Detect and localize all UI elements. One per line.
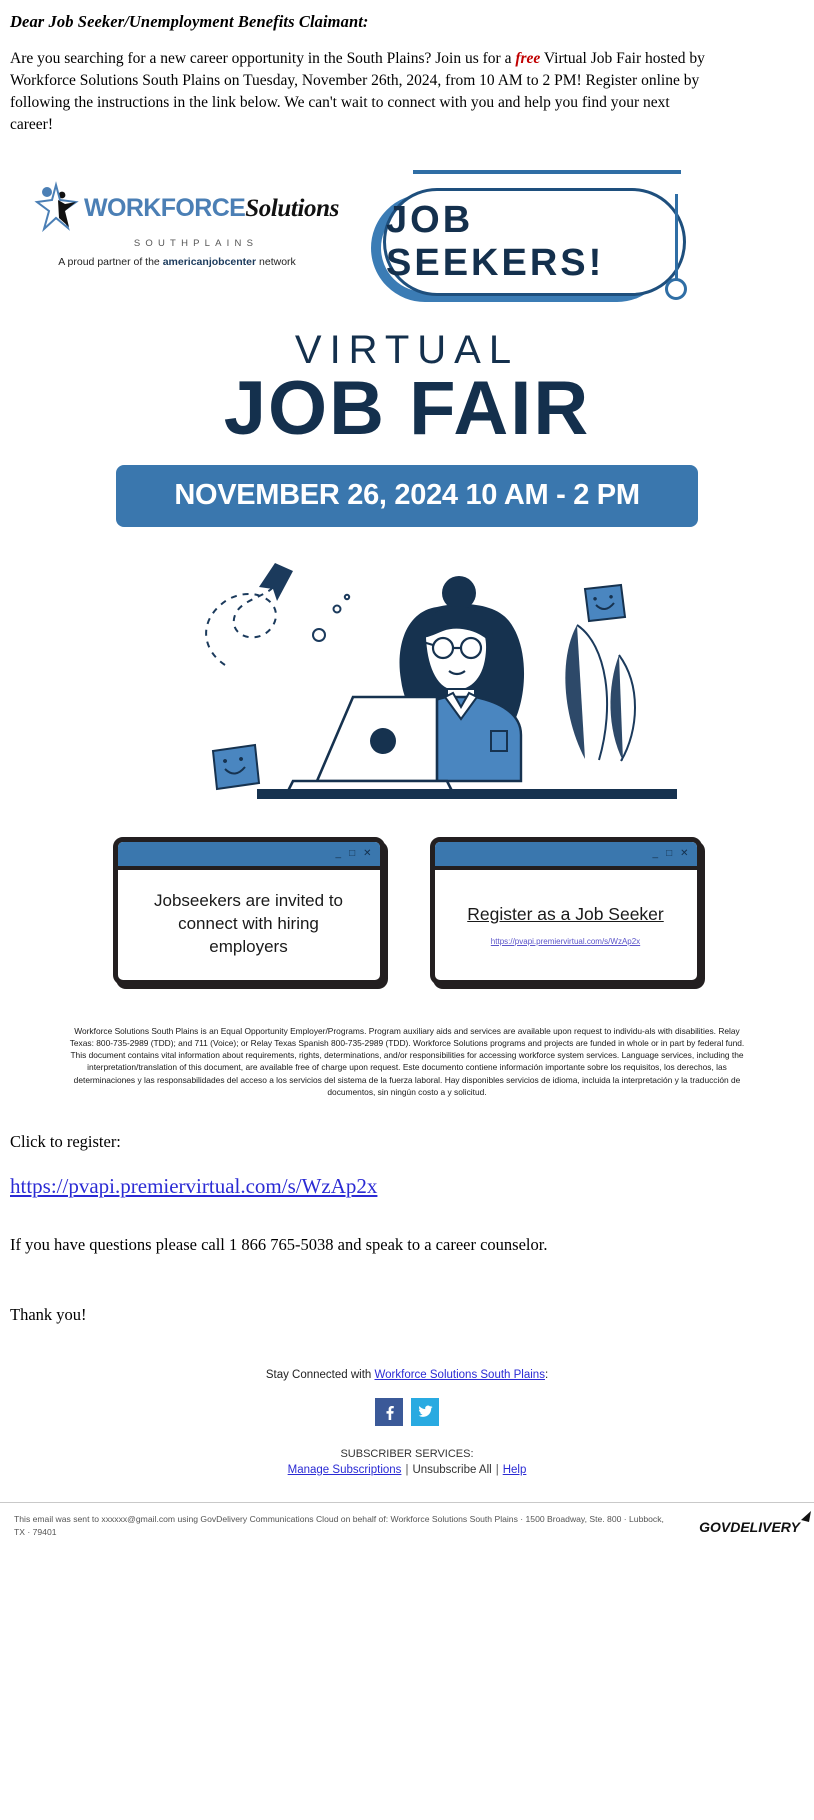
proud-prefix: A proud partner of the [58, 256, 163, 268]
salutation: Dear Job Seeker/Unemployment Benefits Cl… [10, 12, 804, 32]
logo-southplains-text: SOUTHPLAINS [32, 238, 322, 249]
event-date-banner: NOVEMBER 26, 2024 10 AM - 2 PM [116, 465, 698, 527]
legal-row: This email was sent to xxxxxx@gmail.com … [0, 1502, 814, 1549]
questions-line: If you have questions please call 1 866 … [10, 1235, 804, 1255]
subscriber-services-label: SUBSCRIBER SERVICES: [0, 1448, 814, 1460]
stay-connected-prefix: Stay Connected with [266, 1369, 375, 1381]
window-left-line3: employers [209, 936, 287, 959]
unsubscribe-all-link[interactable]: Unsubscribe All [412, 1464, 491, 1476]
window-left-content: Jobseekers are invited to connect with h… [118, 870, 380, 980]
link-separator-2: | [492, 1464, 503, 1476]
govdelivery-wordmark: GOVDELIVERY [699, 1519, 800, 1535]
star-person-icon [32, 180, 80, 236]
facebook-icon[interactable] [375, 1398, 403, 1426]
link-separator-1: | [401, 1464, 412, 1476]
close-icon[interactable]: ✕ [363, 849, 371, 859]
flyer-header-row: WORKFORCESolutions SOUTHPLAINS A proud p… [0, 166, 814, 316]
badge-end-dot-icon [665, 278, 687, 300]
american-job-center-logo: americanjobcenter [163, 256, 256, 268]
workforce-solutions-logo: WORKFORCESolutions SOUTHPLAINS A proud p… [32, 180, 322, 268]
govdelivery-logo: GOVDELIVERY [699, 1519, 800, 1535]
badge-pill: JOB SEEKERS! [383, 188, 686, 296]
badge-tail-line [675, 194, 678, 284]
maximize-icon[interactable]: □ [349, 849, 355, 859]
manage-subscriptions-link[interactable]: Manage Subscriptions [288, 1464, 402, 1476]
stay-connected-link[interactable]: Workforce Solutions South Plains [375, 1369, 545, 1381]
intro-text-before-free: Are you searching for a new career oppor… [10, 50, 515, 67]
woman-at-laptop-illustration [107, 545, 707, 815]
twitter-icon[interactable] [411, 1398, 439, 1426]
letter-lower: Click to register: https://pvapi.premier… [0, 1132, 814, 1325]
window-titlebar-right: _ □ ✕ [435, 842, 697, 870]
maximize-icon[interactable]: □ [666, 849, 672, 859]
flyer-graphic: WORKFORCESolutions SOUTHPLAINS A proud p… [0, 142, 814, 1098]
job-seekers-badge: JOB SEEKERS! [345, 166, 685, 316]
help-link[interactable]: Help [503, 1464, 527, 1476]
letter-intro: Dear Job Seeker/Unemployment Benefits Cl… [0, 0, 814, 136]
ajc-job: job [209, 256, 225, 268]
social-links [0, 1398, 814, 1426]
proud-partner-line: A proud partner of the americanjobcenter… [32, 256, 322, 268]
flyer-title-jobfair: JOB FAIR [0, 369, 814, 449]
event-date-text: NOVEMBER 26, 2024 10 AM - 2 PM [174, 479, 639, 512]
close-icon[interactable]: ✕ [680, 849, 688, 859]
minimize-icon[interactable]: _ [336, 849, 342, 859]
minimize-icon[interactable]: _ [653, 849, 659, 859]
ajc-american: american [163, 256, 209, 268]
click-to-register-label: Click to register: [10, 1132, 804, 1152]
proud-suffix: network [256, 256, 296, 268]
window-right-content: Register as a Job Seeker https://pvapi.p… [435, 870, 697, 980]
intro-paragraph: Are you searching for a new career oppor… [10, 48, 710, 136]
stay-connected-line: Stay Connected with Workforce Solutions … [0, 1369, 814, 1381]
free-emphasis: free [515, 50, 540, 67]
email-page: Dear Job Seeker/Unemployment Benefits Cl… [0, 0, 814, 1549]
stay-connected-suffix: : [545, 1369, 548, 1381]
email-footer: Stay Connected with Workforce Solutions … [0, 1369, 814, 1549]
subscriber-services-links: Manage Subscriptions|Unsubscribe All|Hel… [0, 1464, 814, 1476]
equal-opportunity-disclaimer: Workforce Solutions South Plains is an E… [67, 1025, 747, 1098]
window-jobseekers-invited: _ □ ✕ Jobseekers are invited to connect … [113, 837, 385, 985]
register-url-text[interactable]: https://pvapi.premiervirtual.com/s/WzAp2… [491, 937, 640, 946]
ajc-center: center [225, 256, 257, 268]
register-job-seeker-heading[interactable]: Register as a Job Seeker [467, 904, 664, 925]
window-left-line1: Jobseekers are invited to [154, 890, 343, 913]
window-titlebar-left: _ □ ✕ [118, 842, 380, 870]
window-left-line2: connect with hiring [178, 913, 319, 936]
badge-top-rule [413, 170, 681, 174]
logo-solutions-text: Solutions [245, 196, 339, 221]
legal-sent-to-text: This email was sent to xxxxxx@gmail.com … [14, 1513, 674, 1539]
thank-you-line: Thank you! [10, 1305, 804, 1325]
registration-link[interactable]: https://pvapi.premiervirtual.com/s/WzAp2… [10, 1174, 377, 1199]
badge-label: JOB SEEKERS! [386, 199, 683, 285]
logo-workforce-text: WORKFORCE [84, 196, 245, 221]
window-register-job-seeker: _ □ ✕ Register as a Job Seeker https://p… [430, 837, 702, 985]
browser-window-group: _ □ ✕ Jobseekers are invited to connect … [0, 837, 814, 985]
